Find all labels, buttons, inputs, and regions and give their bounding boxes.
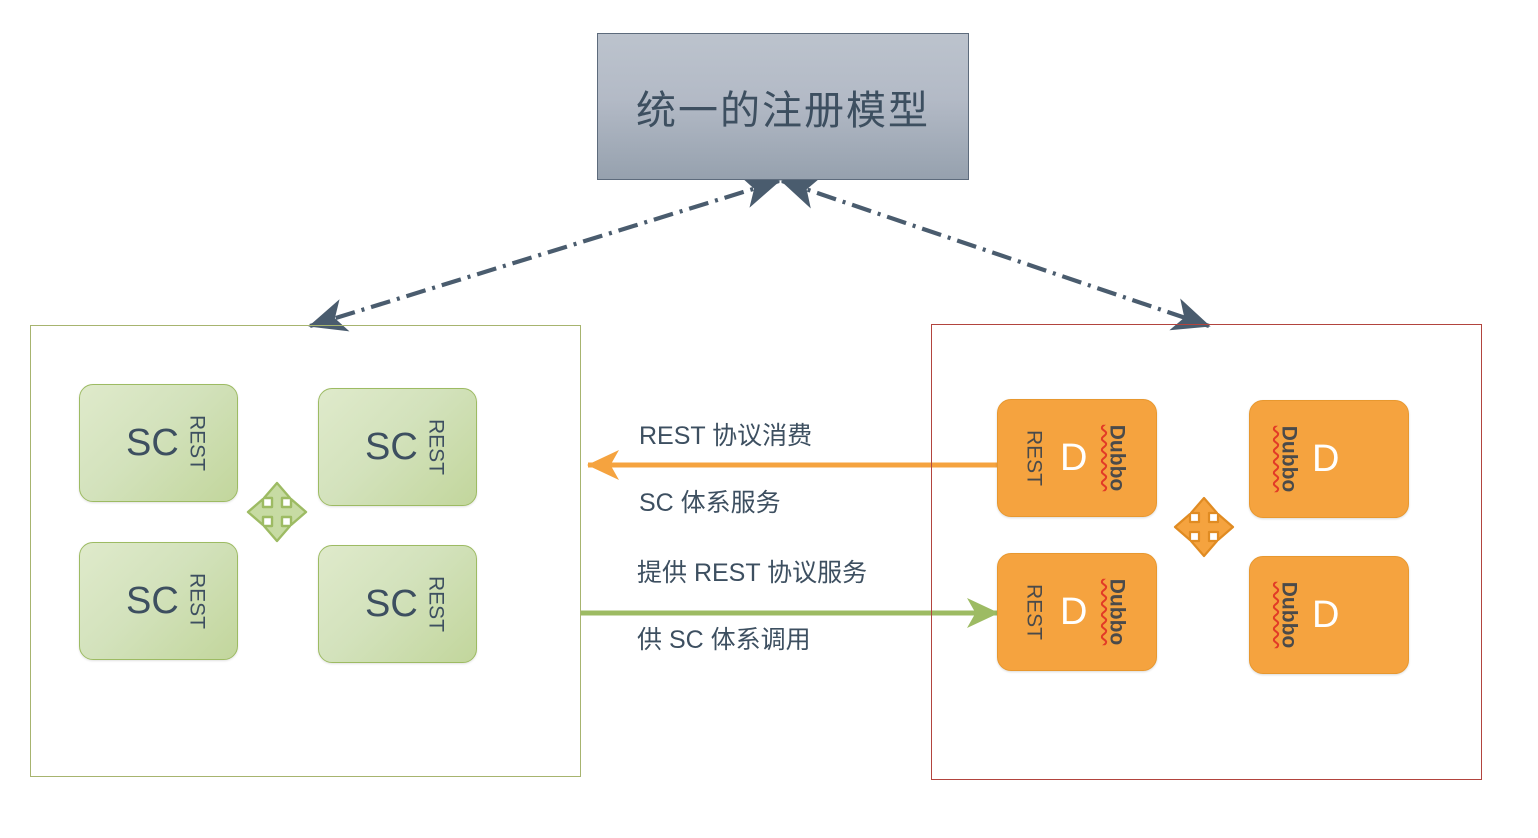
dubbo-node[interactable]: D REST Dubbo [997, 399, 1157, 517]
dubbo-node-rest-label: REST [1024, 584, 1045, 640]
dubbo-node-rest-label: REST [1024, 430, 1045, 486]
sc-node-label: SC [365, 585, 418, 623]
dubbo-node-protocol-label: Dubbo [1106, 425, 1127, 491]
sc-node-protocol-label: REST [186, 415, 207, 471]
flow-label-provide: 提供 REST 协议服务 供 SC 体系调用 [637, 523, 867, 691]
flow-label-provide-line2: 供 SC 体系调用 [637, 624, 867, 658]
dubbo-node-label: D [1060, 593, 1087, 631]
connector-registry-right [782, 181, 1209, 326]
sc-node-label: SC [126, 424, 179, 462]
dubbo-node[interactable]: D Dubbo [1249, 556, 1409, 674]
sc-node-protocol-label: REST [425, 419, 446, 475]
dubbo-node-label: D [1312, 596, 1339, 634]
sc-node-label: SC [365, 428, 418, 466]
flow-label-provide-line1: 提供 REST 协议服务 [637, 557, 867, 591]
sc-node[interactable]: SC REST [318, 388, 477, 506]
flow-label-consume-line1: REST 协议消费 [639, 420, 812, 454]
dubbo-node[interactable]: D Dubbo [1249, 400, 1409, 518]
dubbo-node-protocol-label: Dubbo [1279, 426, 1300, 492]
dubbo-node-label: D [1060, 439, 1087, 477]
registry-model-title: 统一的注册模型 [636, 78, 930, 136]
dubbo-node-protocol-label: Dubbo [1106, 579, 1127, 645]
connector-registry-left [310, 181, 779, 326]
flow-label-consume-line2: SC 体系服务 [639, 487, 812, 521]
sc-node-protocol-label: REST [425, 576, 446, 632]
sc-node[interactable]: SC REST [318, 545, 477, 663]
dubbo-node-label: D [1312, 440, 1339, 478]
four-way-move-arrow-icon [1172, 495, 1236, 559]
registry-model-box[interactable]: 统一的注册模型 [597, 33, 969, 180]
dubbo-node[interactable]: D REST Dubbo [997, 553, 1157, 671]
sc-node-protocol-label: REST [186, 573, 207, 629]
sc-node-label: SC [126, 582, 179, 620]
four-way-move-arrow-icon [245, 480, 309, 544]
sc-node[interactable]: SC REST [79, 542, 238, 660]
sc-node[interactable]: SC REST [79, 384, 238, 502]
dubbo-node-protocol-label: Dubbo [1279, 582, 1300, 648]
diagram-canvas: 统一的注册模型 SC REST SC REST SC REST SC REST … [0, 0, 1538, 838]
